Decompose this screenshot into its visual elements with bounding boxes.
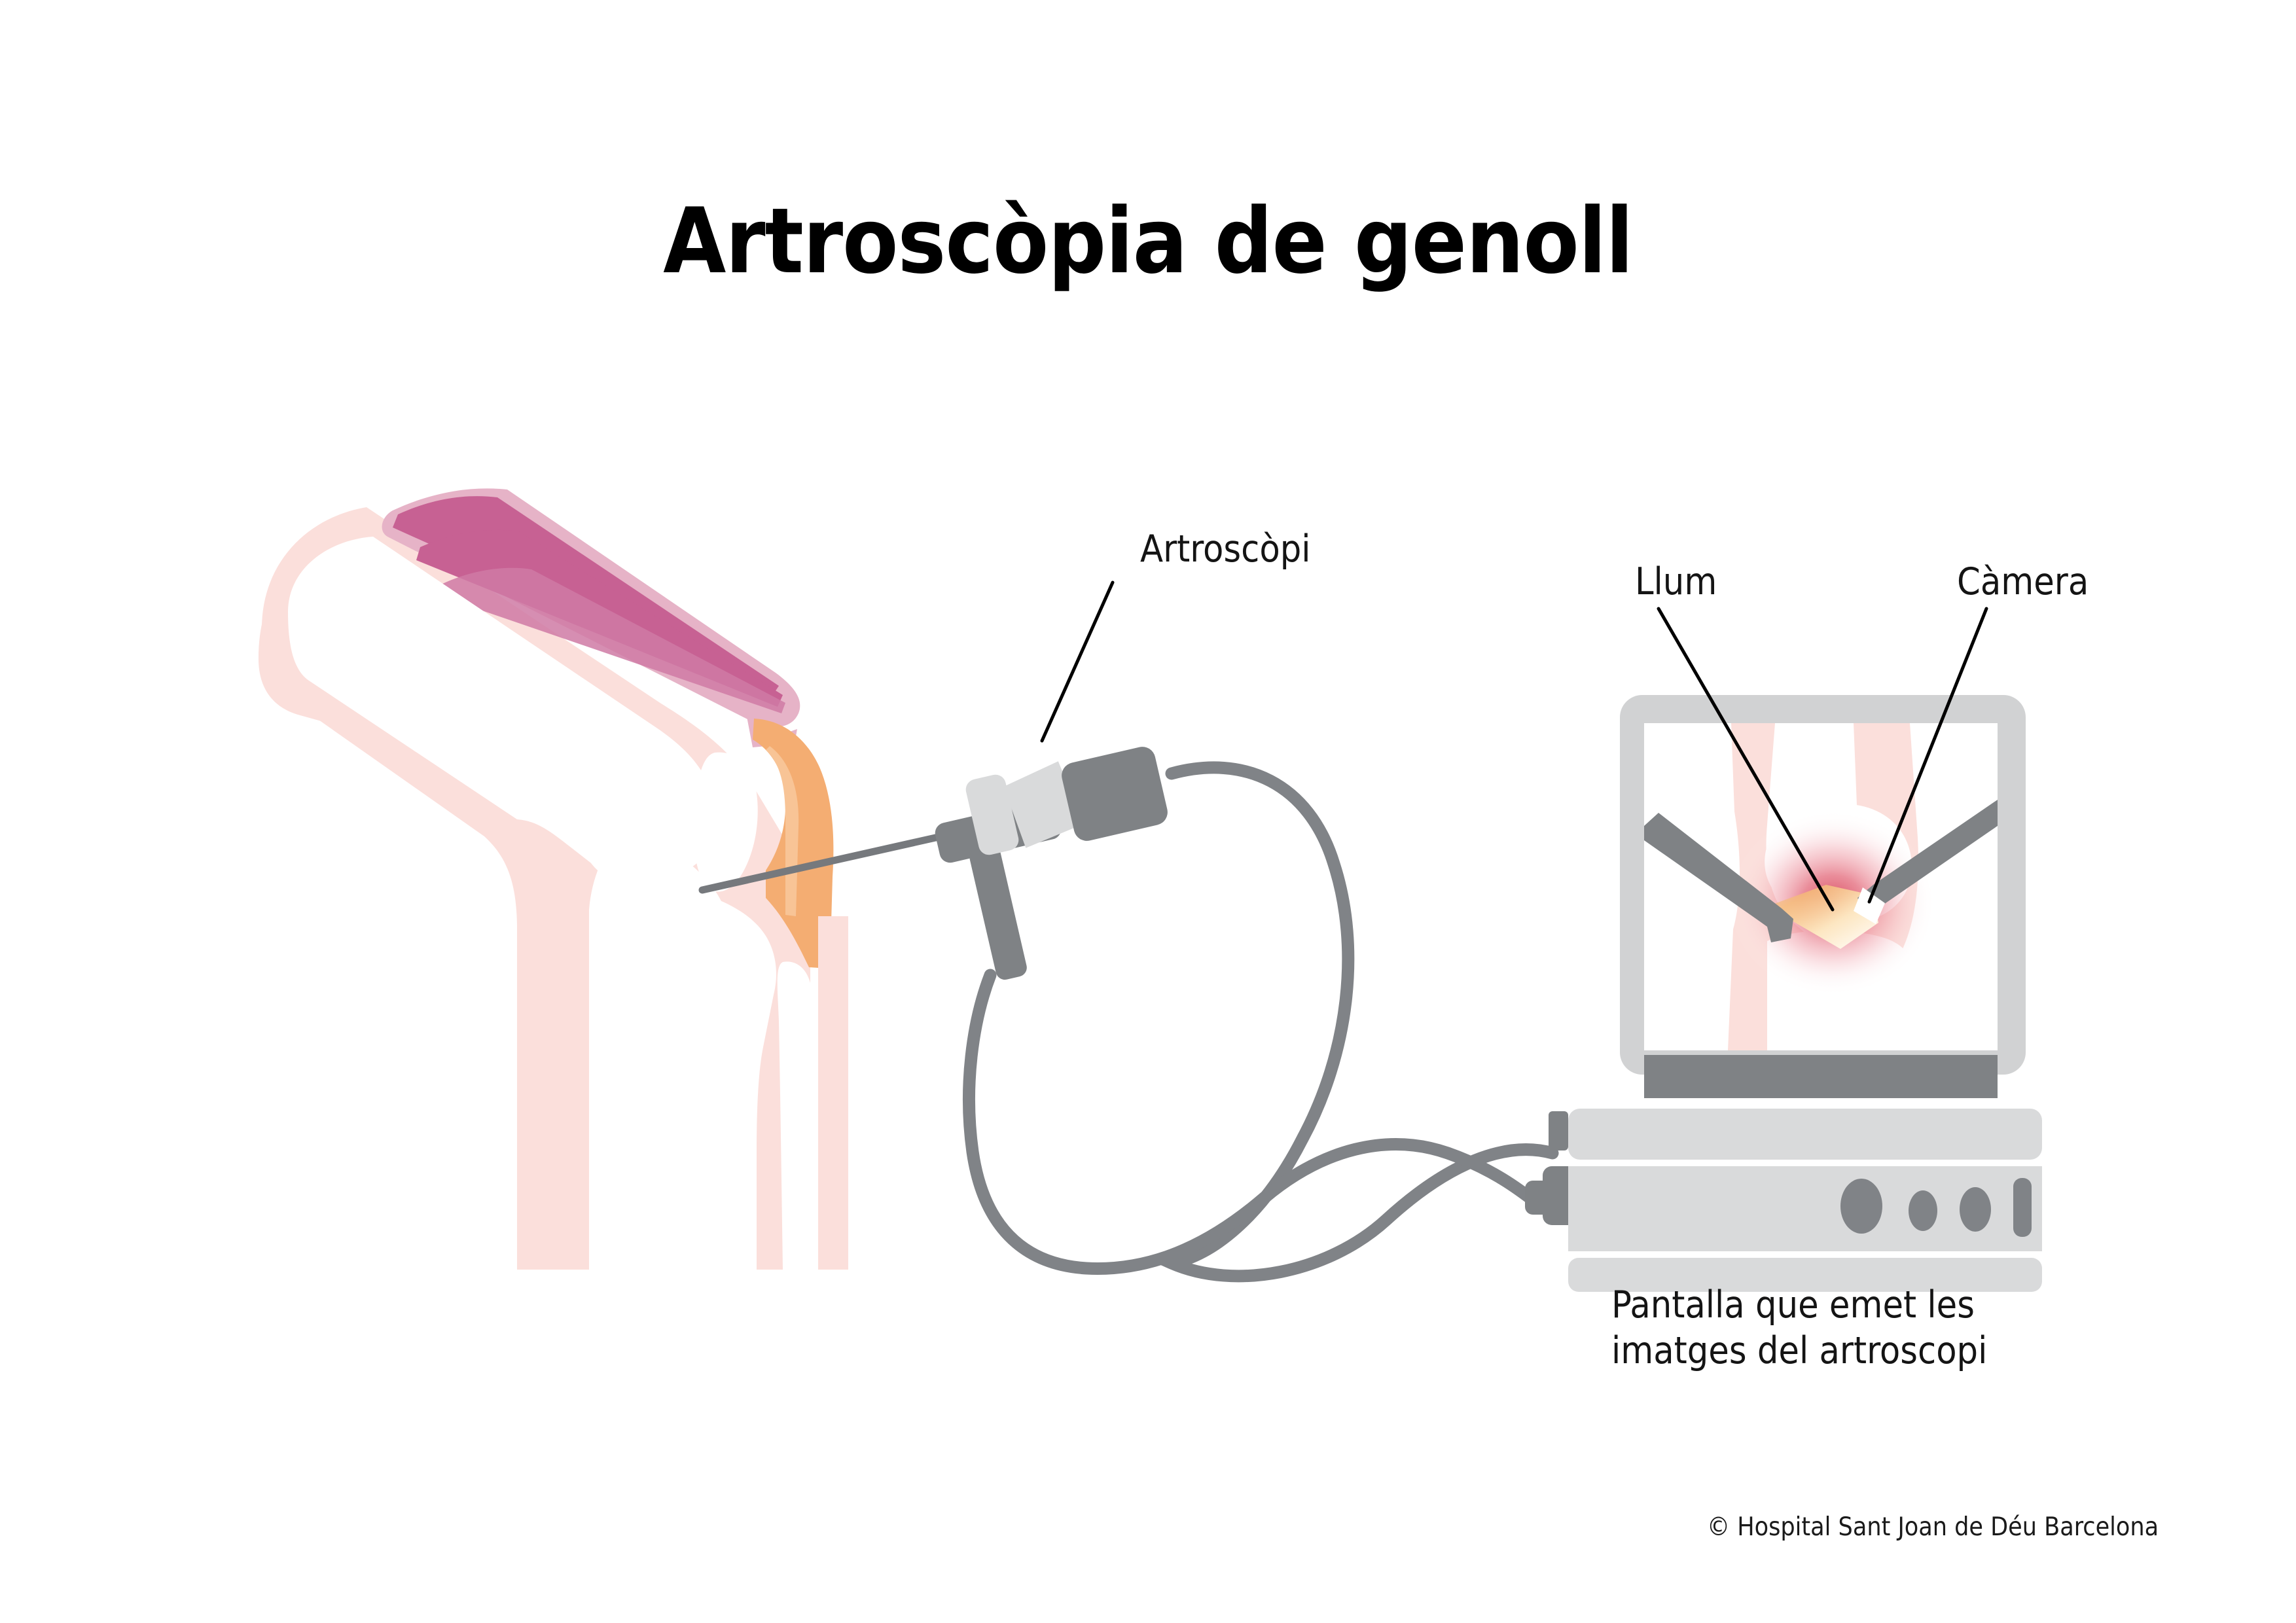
label-camera: Càmera: [1957, 560, 2089, 605]
monitor-neck: [1644, 1055, 1998, 1098]
label-screen-line1: Pantalla que emet les: [1611, 1283, 1987, 1329]
video-monitor: [1620, 695, 2026, 1098]
fibula-bone: [778, 961, 815, 1270]
console-unit: [1525, 1109, 2042, 1292]
label-screen-line2: imatges del artroscopi: [1611, 1329, 1987, 1374]
cable-lower: [969, 975, 1538, 1268]
calf-tissue: [818, 916, 848, 1270]
illustration-page: Artroscòpia de genoll Artroscòpi Llum Cà…: [0, 0, 2296, 1623]
console-top-port: [1549, 1111, 1568, 1150]
label-screen-caption: Pantalla que emet les imatges del artros…: [1611, 1283, 1987, 1374]
label-light: Llum: [1635, 560, 1717, 605]
console-slider[interactable]: [2013, 1178, 2032, 1237]
console-upper-slab: [1568, 1109, 2042, 1160]
copyright-credit: © Hospital Sant Joan de Déu Barcelona: [1707, 1512, 2159, 1543]
arthroscope-cables: [969, 768, 1552, 1276]
console-large-button[interactable]: [1840, 1179, 1882, 1234]
arthroscope-device: [933, 744, 1170, 988]
arthroscope-body: [1059, 744, 1170, 844]
leader-line-arthroscope: [1042, 582, 1113, 741]
console-medium-button[interactable]: [1960, 1187, 1991, 1232]
label-arthroscope: Artroscòpi: [1140, 527, 1311, 573]
console-small-button[interactable]: [1909, 1190, 1937, 1231]
page-title: Artroscòpia de genoll: [0, 196, 2296, 287]
cable-upper: [1172, 768, 1552, 1276]
